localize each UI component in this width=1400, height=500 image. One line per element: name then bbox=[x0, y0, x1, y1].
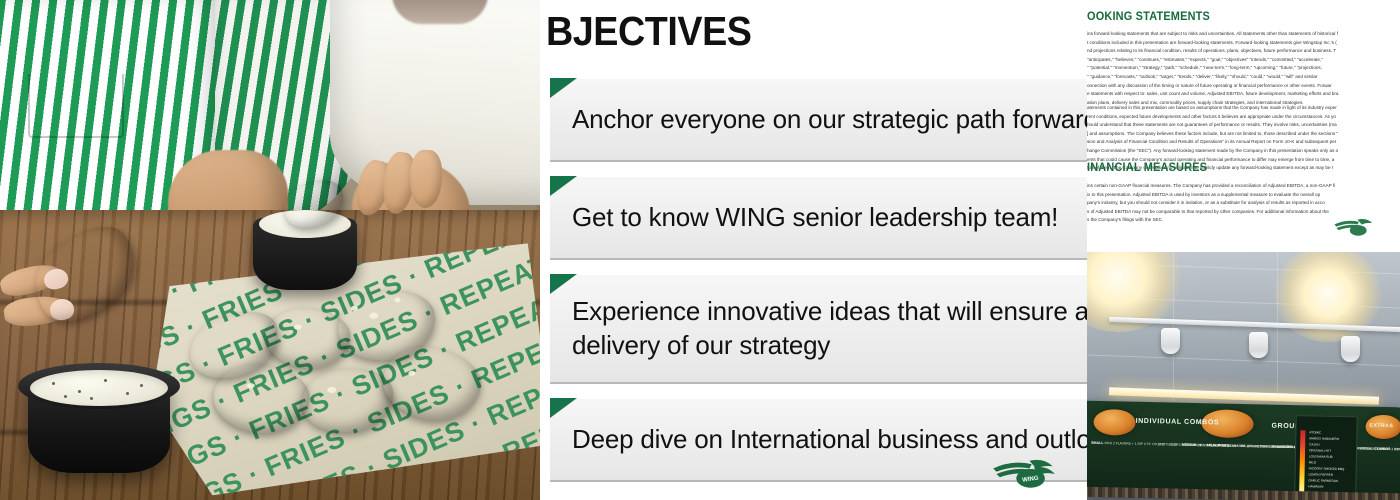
objective-text: Anchor everyone on our strategic path fo… bbox=[550, 78, 1087, 160]
doc-line: " "potential," "momentum," "strategy," "… bbox=[1087, 64, 1338, 73]
track-spotlight bbox=[1249, 332, 1268, 358]
wingstop-wing-logo-icon bbox=[1332, 214, 1376, 242]
doc-line: "anticipates," "believes," "continues," … bbox=[1087, 56, 1338, 65]
wingstop-wing-logo-icon: WING bbox=[991, 452, 1057, 496]
ranch-sauce bbox=[30, 370, 168, 406]
page-title: BJECTIVES bbox=[546, 8, 751, 55]
forward-looking-statements-slide: OOKING STATEMENTS ins forward-looking st… bbox=[1087, 0, 1400, 248]
flavor-item: ORIGINAL HOT bbox=[1309, 448, 1331, 452]
doc-line: " "guidance," "forecasts," "outlook," "t… bbox=[1087, 73, 1338, 82]
screenshot-stage: WINGS · FRIES · SIDES · REPEAT · WINGS ·… bbox=[0, 0, 1400, 500]
objective-text: Get to know WING senior leadership team! bbox=[550, 176, 1087, 258]
menu-item-desc: PICK 2 FLAVORS + 1 DIP bbox=[1104, 441, 1143, 446]
doc-paragraph-1: ins forward-looking statements that are … bbox=[1087, 30, 1338, 107]
doc-heading-financial-measures: INANCIAL MEASURES bbox=[1087, 162, 1207, 174]
menu-price: 13.29 bbox=[1187, 443, 1195, 447]
doc-line: ins forward-looking statements that are … bbox=[1087, 30, 1338, 39]
flavor-item: ATOMIC bbox=[1309, 430, 1321, 434]
shirt-pocket bbox=[28, 74, 124, 138]
menu-price: 10.29 bbox=[1157, 442, 1165, 446]
doc-line: s the Company's filings with the SEC. bbox=[1087, 216, 1335, 225]
flavor-item: CAJUN bbox=[1309, 442, 1319, 446]
doc-line: hange Commission (the "SEC"). Any forwar… bbox=[1087, 147, 1338, 156]
hand-dipping-wing bbox=[300, 150, 440, 260]
doc-heading-forward-looking: OOKING STATEMENTS bbox=[1087, 11, 1210, 23]
green-corner-triangle-icon bbox=[550, 274, 577, 294]
flavor-item: LOUISIANA RUB bbox=[1309, 454, 1333, 458]
doc-line: ] and assumptions. The Company believes … bbox=[1087, 130, 1338, 139]
menu-food-image bbox=[1093, 409, 1136, 436]
flavor-item: MILD bbox=[1309, 460, 1316, 464]
doc-line: pany's industry, but you should not cons… bbox=[1087, 199, 1335, 208]
menu-item-name: SMALL bbox=[1091, 441, 1103, 445]
flavor-item: GARLIC PARMESAN bbox=[1308, 478, 1338, 483]
flavors-panel: ATOMIC MANGO HABANERO CAJUN ORIGINAL HOT… bbox=[1294, 415, 1358, 500]
menu-item-name: MEAL FOR 2 bbox=[1207, 443, 1229, 447]
menu-header-individual-combos: INDIVIDUAL COMBOS bbox=[1136, 418, 1220, 427]
flavor-item: MANGO HABANERO bbox=[1309, 436, 1339, 441]
track-spotlight bbox=[1161, 328, 1180, 354]
doc-line: nd projections relating to its financial… bbox=[1087, 47, 1338, 56]
doc-line: hould understand that these statements a… bbox=[1087, 121, 1338, 130]
flavor-item: LEMON PEPPER bbox=[1309, 472, 1334, 477]
hand-holding-tender bbox=[0, 245, 130, 365]
objective-text: Experience innovative ideas that will en… bbox=[550, 274, 1087, 382]
objectives-list: Anchor everyone on our strategic path fo… bbox=[550, 78, 1087, 496]
doc-line: s of Adjusted EBITDA may not be comparab… bbox=[1087, 208, 1335, 217]
doc-line: ix to this presentation. Adjusted EBITDA… bbox=[1087, 191, 1335, 200]
doc-line: ins certain non-GAAP financial measures.… bbox=[1087, 182, 1335, 191]
green-corner-triangle-icon bbox=[550, 398, 577, 418]
flavor-item: HAWAIIAN bbox=[1308, 484, 1323, 488]
doc-line: sion and Analysis of Financial Condition… bbox=[1087, 138, 1338, 147]
doc-line: rent conditions, expected future develop… bbox=[1087, 113, 1338, 122]
heat-scale-bar bbox=[1299, 430, 1305, 492]
objective-item-3[interactable]: Experience innovative ideas that will en… bbox=[550, 274, 1087, 384]
right-column: OOKING STATEMENTS ins forward-looking st… bbox=[1087, 0, 1400, 500]
menu-price: 25.49 bbox=[1259, 444, 1267, 448]
menu-board: INDIVIDUAL COMBOS GROUP PACKS FLAVORS EX… bbox=[1087, 401, 1400, 500]
doc-line: atements contained in this presentation … bbox=[1087, 104, 1338, 113]
doc-line: onnection with any discussion of the tim… bbox=[1087, 82, 1338, 91]
doc-line: e statements with respect to: sales, uni… bbox=[1087, 90, 1338, 99]
objective-item-2[interactable]: Get to know WING senior leadership team! bbox=[550, 176, 1087, 260]
doc-paragraph-3: ins certain non-GAAP financial measures.… bbox=[1087, 182, 1335, 225]
flavor-item: HICKORY SMOKED BBQ bbox=[1309, 466, 1345, 471]
ranch-dip-cup bbox=[18, 355, 180, 475]
menu-price: 13.29 bbox=[1169, 442, 1177, 446]
restaurant-menu-board-photo: INDIVIDUAL COMBOS GROUP PACKS FLAVORS EX… bbox=[1087, 252, 1400, 500]
food-photo-panel: WINGS · FRIES · SIDES · REPEAT · WINGS ·… bbox=[0, 0, 540, 500]
green-corner-triangle-icon bbox=[550, 176, 577, 196]
track-spotlight bbox=[1341, 336, 1360, 362]
doc-line: t conditions included in this presentati… bbox=[1087, 39, 1338, 48]
finger bbox=[409, 149, 443, 208]
menu-header-extras: EXTRAS bbox=[1370, 423, 1394, 429]
objectives-slide: BJECTIVES Anchor everyone on our strateg… bbox=[540, 0, 1087, 500]
objective-item-1[interactable]: Anchor everyone on our strategic path fo… bbox=[550, 78, 1087, 162]
green-corner-triangle-icon bbox=[550, 78, 577, 98]
